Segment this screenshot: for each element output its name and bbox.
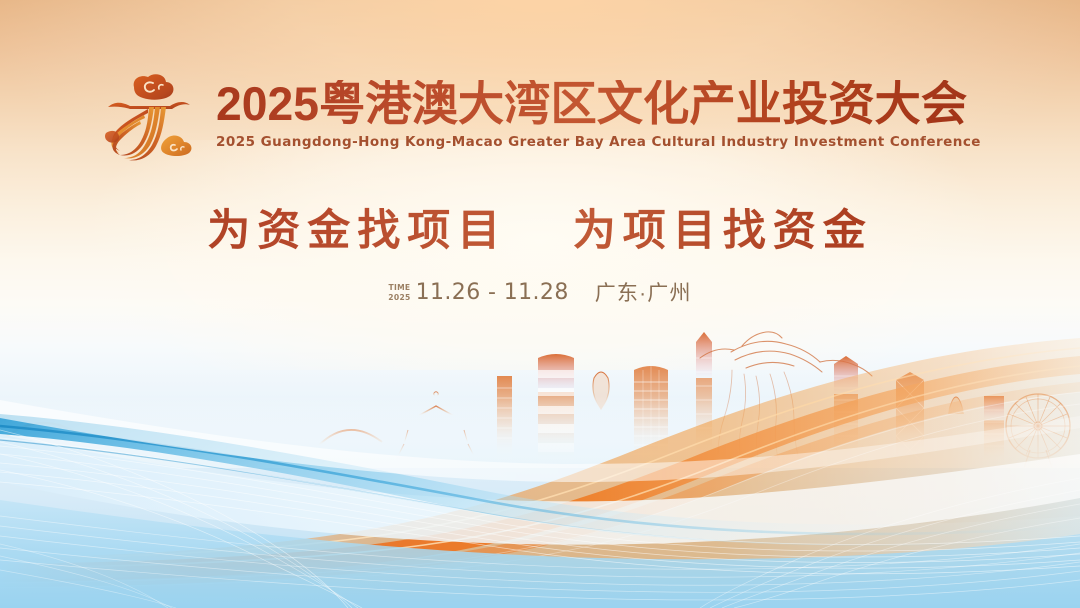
poster-dateline: TIME 2025 11.26 - 11.28 广东·广州 — [0, 277, 1080, 307]
event-location: 广东·广州 — [595, 277, 692, 307]
page-title: 2025粤港澳大湾区文化产业投资大会 — [216, 80, 967, 127]
page-subtitle-english: 2025 Guangdong-Hong Kong-Macao Greater B… — [216, 134, 981, 150]
conference-poster: 2025粤港澳大湾区文化产业投资大会 2025 Guangdong-Hong K… — [0, 0, 1080, 608]
title-block: 2025粤港澳大湾区文化产业投资大会 2025 Guangdong-Hong K… — [216, 80, 985, 150]
time-label: TIME 2025 — [388, 283, 410, 302]
time-label-line1: TIME — [388, 283, 410, 292]
cloud-flourish-icon — [105, 131, 119, 143]
slogan-part-1: 为资金找项目 — [207, 208, 507, 255]
time-label-line2: 2025 — [388, 293, 410, 302]
blue-silk-ribbon-waves — [0, 330, 1080, 608]
poster-header: 2025粤港澳大湾区文化产业投资大会 2025 Guangdong-Hong K… — [0, 60, 1080, 170]
slogan-part-2: 为项目找资金 — [573, 208, 873, 255]
event-date-range: 11.26 - 11.28 — [416, 280, 569, 305]
wen-character-cloud-emblem-icon — [96, 63, 200, 167]
poster-slogan: 为资金找项目 为项目找资金 — [0, 196, 1080, 258]
cloud-motif-small-icon — [161, 135, 191, 156]
cloud-motif-icon — [133, 74, 173, 99]
